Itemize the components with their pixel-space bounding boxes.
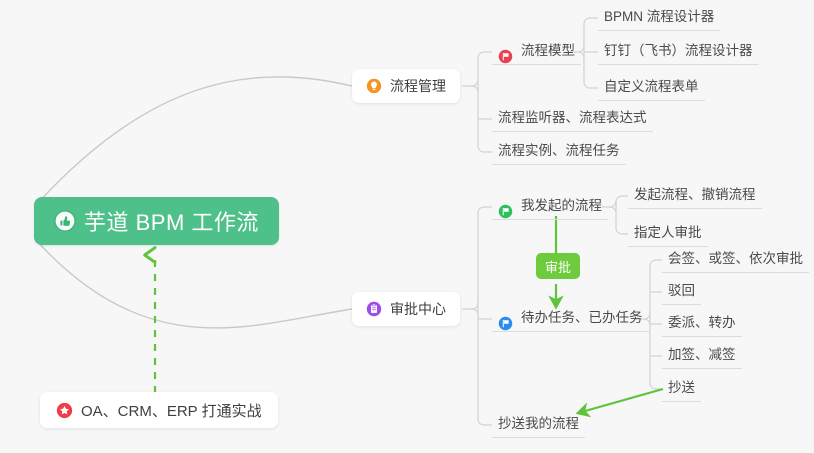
node-listener-expression[interactable]: 流程监听器、流程表达式	[492, 106, 653, 132]
edge-model-to-custom-form	[584, 82, 598, 88]
node-process-management[interactable]: 流程管理	[352, 69, 460, 103]
node-custom-process-form[interactable]: 自定义流程表单	[598, 75, 705, 101]
flag-icon	[498, 49, 513, 64]
node-add-remove-sign[interactable]: 加签、减签	[662, 343, 742, 369]
edge-ac-join-lower	[472, 309, 478, 315]
node-cc-to-me[interactable]: 抄送我的流程	[492, 412, 585, 438]
node-delegate-transfer-label: 委派、转办	[668, 312, 736, 336]
edge-pm-join-lower	[472, 86, 478, 92]
node-start-cancel-process[interactable]: 发起流程、撤销流程	[628, 183, 762, 209]
node-cc[interactable]: 抄送	[662, 376, 701, 402]
edge-todo-to-countersign	[650, 260, 662, 266]
node-add-remove-sign-label: 加签、减签	[668, 344, 736, 368]
star-icon	[56, 402, 73, 419]
approval-tag[interactable]: 审批	[536, 253, 580, 279]
node-dingtalk-feishu-designer[interactable]: 钉钉（飞书）流程设计器	[598, 39, 759, 65]
node-dingtalk-feishu-designer-label: 钉钉（飞书）流程设计器	[604, 40, 753, 64]
node-reject-label: 驳回	[668, 280, 695, 304]
edge-ac-join-upper	[472, 303, 478, 309]
node-my-started-process-label: 我发起的流程	[521, 195, 602, 219]
edge-root-to-approval-center	[36, 240, 352, 328]
node-integration-practice-label: OA、CRM、ERP 打通实战	[81, 400, 262, 421]
edge-pm-to-process-model	[478, 52, 492, 58]
node-countersign[interactable]: 会签、或签、依次审批	[662, 247, 809, 273]
root-label: 芋道 BPM 工作流	[84, 205, 259, 237]
node-integration-practice[interactable]: OA、CRM、ERP 打通实战	[40, 392, 278, 428]
node-todo-done-task[interactable]: 待办任务、已办任务	[492, 306, 649, 332]
node-bpmn-designer-label: BPMN 流程设计器	[604, 6, 714, 30]
node-approval-center-label: 审批中心	[390, 299, 446, 319]
node-my-started-process[interactable]: 我发起的流程	[492, 194, 608, 220]
node-instance-task-label: 流程实例、流程任务	[498, 140, 620, 164]
node-cc-to-me-label: 抄送我的流程	[498, 413, 579, 437]
edge-todo-to-cc	[650, 383, 662, 389]
edge-started-to-assignee	[616, 228, 628, 234]
node-delegate-transfer[interactable]: 委派、转办	[662, 311, 742, 337]
node-start-cancel-process-label: 发起流程、撤销流程	[634, 184, 756, 208]
edge-pm-join-upper	[472, 80, 478, 86]
flag-icon	[498, 316, 513, 331]
node-process-management-label: 流程管理	[390, 76, 446, 96]
approval-tag-label: 审批	[545, 257, 571, 276]
node-approval-center[interactable]: 审批中心	[352, 292, 460, 326]
node-listener-expression-label: 流程监听器、流程表达式	[498, 107, 647, 131]
flag-icon	[498, 204, 513, 219]
node-custom-process-form-label: 自定义流程表单	[604, 76, 699, 100]
edge-root-to-process-management	[36, 77, 352, 205]
edge-started-to-start-cancel	[616, 196, 628, 202]
root-node[interactable]: 芋道 BPM 工作流	[34, 197, 279, 245]
node-reject[interactable]: 驳回	[662, 279, 701, 305]
node-assignee-approval[interactable]: 指定人审批	[628, 221, 708, 247]
node-assignee-approval-label: 指定人审批	[634, 222, 702, 246]
thumbs-up-icon	[54, 210, 76, 232]
node-bpmn-designer[interactable]: BPMN 流程设计器	[598, 5, 720, 31]
edge-started-join-upper	[610, 201, 616, 207]
node-countersign-label: 会签、或签、依次审批	[668, 248, 803, 272]
node-process-model-label: 流程模型	[521, 40, 575, 64]
edge-model-to-bpmn	[584, 18, 598, 24]
edge-started-join-lower	[610, 207, 616, 213]
node-todo-done-task-label: 待办任务、已办任务	[521, 307, 643, 331]
node-instance-task[interactable]: 流程实例、流程任务	[492, 139, 626, 165]
node-process-model[interactable]: 流程模型	[492, 39, 581, 65]
edge-pm-to-instance	[478, 146, 492, 152]
clipboard-icon	[366, 301, 382, 317]
arrow-cc-to-cc-to-me	[578, 389, 663, 413]
edge-ac-to-cc-to-me	[478, 419, 492, 425]
edge-ac-to-my-started	[478, 207, 492, 213]
lightbulb-icon	[366, 78, 382, 94]
mindmap-canvas: 芋道 BPM 工作流 流程管理 流程模型 BPMN 流程设计器 钉钉（飞书）流程…	[0, 0, 814, 453]
node-cc-label: 抄送	[668, 377, 695, 401]
